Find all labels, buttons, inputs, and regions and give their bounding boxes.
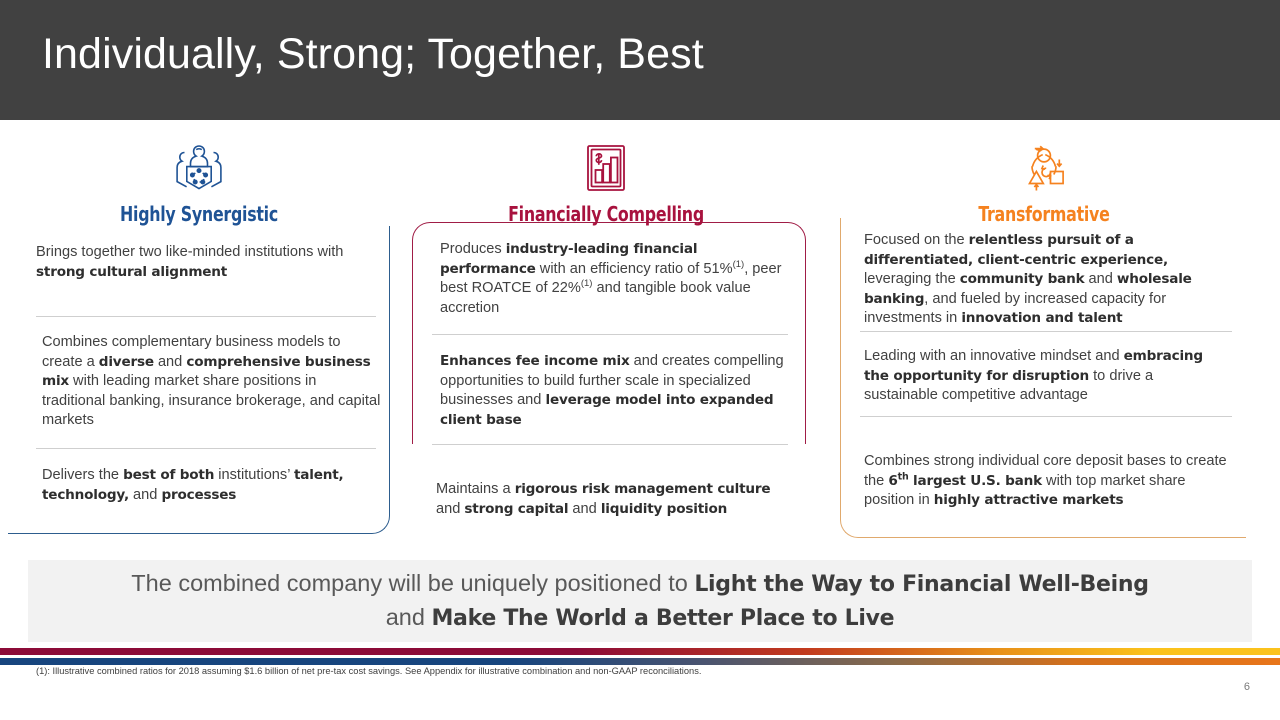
- block-divider: [36, 448, 376, 449]
- pillar-heading-financial: Financially Compelling: [430, 202, 782, 226]
- pillar-transformative: Transformative Focused on the relentless…: [838, 126, 1250, 551]
- pillar-block: Focused on the relentless pursuit of a d…: [864, 231, 1236, 329]
- footnote: (1): Illustrative combined ratios for 20…: [36, 666, 701, 676]
- summary-banner: The combined company will be uniquely po…: [28, 560, 1252, 642]
- people-network-icon: [8, 140, 390, 198]
- page-title: Individually, Strong; Together, Best: [42, 30, 704, 79]
- pillar-block: Maintains a rigorous risk management cul…: [436, 480, 792, 519]
- brand-stripe-bottom: [0, 658, 1280, 665]
- pillars-container: Highly Synergistic Brings together two l…: [0, 126, 1280, 551]
- pillar-block: Brings together two like-minded institut…: [36, 243, 382, 282]
- transformation-cycle-icon: [838, 140, 1250, 198]
- pillar-highly-synergistic: Highly Synergistic Brings together two l…: [8, 126, 390, 551]
- pillar-heading-transformative: Transformative: [863, 202, 1226, 226]
- block-divider: [860, 331, 1232, 332]
- pillar-block: Leading with an innovative mindset and e…: [864, 347, 1230, 406]
- block-divider: [36, 316, 376, 317]
- block-divider: [432, 334, 788, 335]
- pillar-block: Enhances fee income mix and creates comp…: [440, 352, 796, 430]
- bar-chart-dollar-icon: [406, 140, 806, 198]
- pillar-financially-compelling: Financially Compelling Produces industry…: [406, 126, 806, 551]
- pillar-heading-synergistic: Highly Synergistic: [31, 202, 367, 226]
- pillar-block: Produces industry-leading financial perf…: [440, 240, 790, 318]
- summary-banner-text: The combined company will be uniquely po…: [110, 567, 1170, 635]
- page-number: 6: [1244, 681, 1250, 693]
- pillar-block: Delivers the best of both institutions’ …: [42, 466, 382, 505]
- block-divider: [860, 416, 1232, 417]
- pillar-block: Combines strong individual core deposit …: [864, 452, 1230, 511]
- pillar-block: Combines complementary business models t…: [42, 333, 382, 431]
- slide-title-bar: Individually, Strong; Together, Best: [0, 0, 1280, 120]
- brand-stripe-top: [0, 648, 1280, 655]
- block-divider: [432, 444, 788, 445]
